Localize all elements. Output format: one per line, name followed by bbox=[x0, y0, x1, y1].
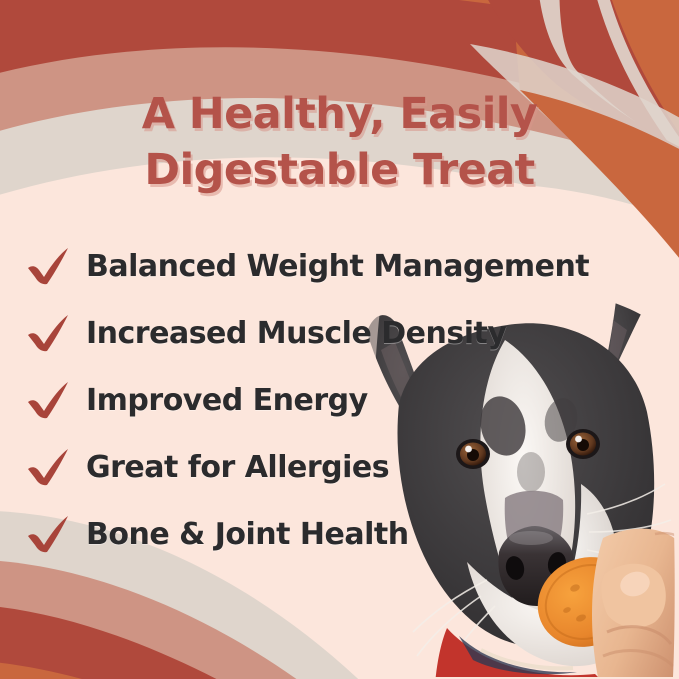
check-icon bbox=[22, 311, 74, 355]
benefits-list: Balanced Weight Management Increased Mus… bbox=[22, 240, 662, 560]
list-item-label: Great for Allergies bbox=[86, 450, 389, 485]
list-item: Balanced Weight Management bbox=[22, 240, 662, 292]
list-item: Great for Allergies bbox=[22, 441, 662, 493]
list-item-label: Increased Muscle Density bbox=[86, 316, 506, 351]
check-icon bbox=[22, 512, 74, 556]
list-item: Bone & Joint Health bbox=[22, 508, 662, 560]
check-icon bbox=[22, 378, 74, 422]
check-icon bbox=[22, 445, 74, 489]
poster-canvas: A Healthy, Easily Digestable Treat bbox=[0, 0, 679, 679]
list-item-label: Bone & Joint Health bbox=[86, 517, 409, 552]
check-icon bbox=[22, 244, 74, 288]
list-item: Improved Energy bbox=[22, 374, 662, 426]
list-item-label: Improved Energy bbox=[86, 383, 368, 418]
list-item-label: Balanced Weight Management bbox=[86, 249, 589, 284]
list-item: Increased Muscle Density bbox=[22, 307, 662, 359]
